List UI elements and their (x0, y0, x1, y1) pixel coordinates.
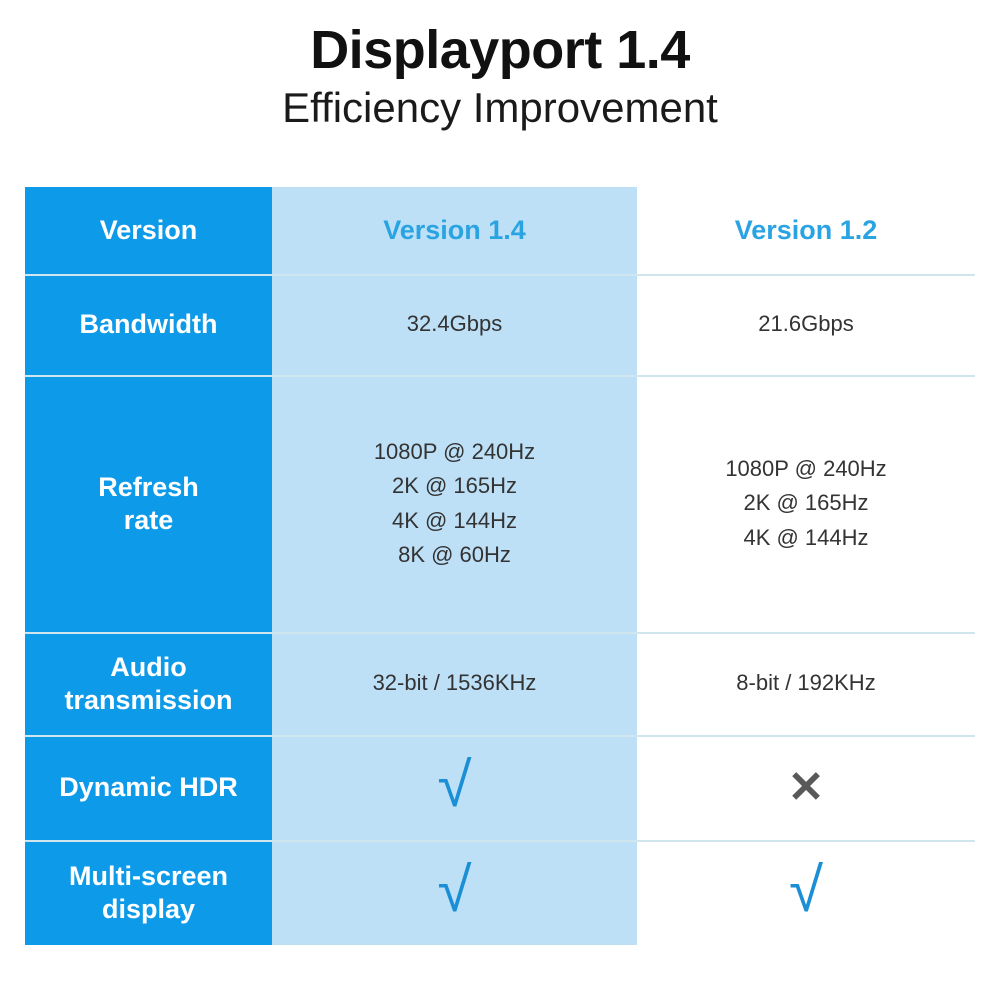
cell-v14: √ (272, 735, 637, 840)
table-row: Bandwidth 32.4Gbps 21.6Gbps (25, 274, 975, 375)
cell-v12: ✕ (637, 735, 975, 840)
cell-v14: √ (272, 840, 637, 945)
row-label: Refresh rate (25, 375, 272, 632)
page-title: Displayport 1.4 (0, 22, 1000, 79)
page-subtitle: Efficiency Improvement (0, 83, 1000, 133)
row-label: Audio transmission (25, 632, 272, 735)
table-row: Multi-screen display √ √ (25, 840, 975, 945)
table-row: Audio transmission 32-bit / 1536KHz 8-bi… (25, 632, 975, 735)
cell-v12: √ (637, 840, 975, 945)
cross-icon: ✕ (788, 766, 825, 810)
cell-v12: 1080P @ 240Hz 2K @ 165Hz 4K @ 144Hz (637, 375, 975, 632)
check-icon: √ (437, 755, 471, 817)
row-label: Dynamic HDR (25, 735, 272, 840)
row-label: Bandwidth (25, 274, 272, 375)
cell-v12: 21.6Gbps (637, 274, 975, 375)
column-header-feature: Version (25, 187, 272, 274)
comparison-infographic: Displayport 1.4 Efficiency Improvement V… (0, 0, 1000, 1000)
check-icon: √ (437, 860, 471, 922)
cell-v14: 1080P @ 240Hz 2K @ 165Hz 4K @ 144Hz 8K @… (272, 375, 637, 632)
check-icon: √ (789, 860, 823, 922)
comparison-table: Version Version 1.4 Version 1.2 Bandwidt… (25, 187, 975, 945)
cell-v12: 8-bit / 192KHz (637, 632, 975, 735)
cell-v14: 32.4Gbps (272, 274, 637, 375)
table-row: Dynamic HDR √ ✕ (25, 735, 975, 840)
table-row: Refresh rate 1080P @ 240Hz 2K @ 165Hz 4K… (25, 375, 975, 632)
table-header-row: Version Version 1.4 Version 1.2 (25, 187, 975, 274)
row-label: Multi-screen display (25, 840, 272, 945)
column-header-v14: Version 1.4 (272, 187, 637, 274)
column-header-v12: Version 1.2 (637, 187, 975, 274)
heading-block: Displayport 1.4 Efficiency Improvement (0, 22, 1000, 134)
cell-v14: 32-bit / 1536KHz (272, 632, 637, 735)
